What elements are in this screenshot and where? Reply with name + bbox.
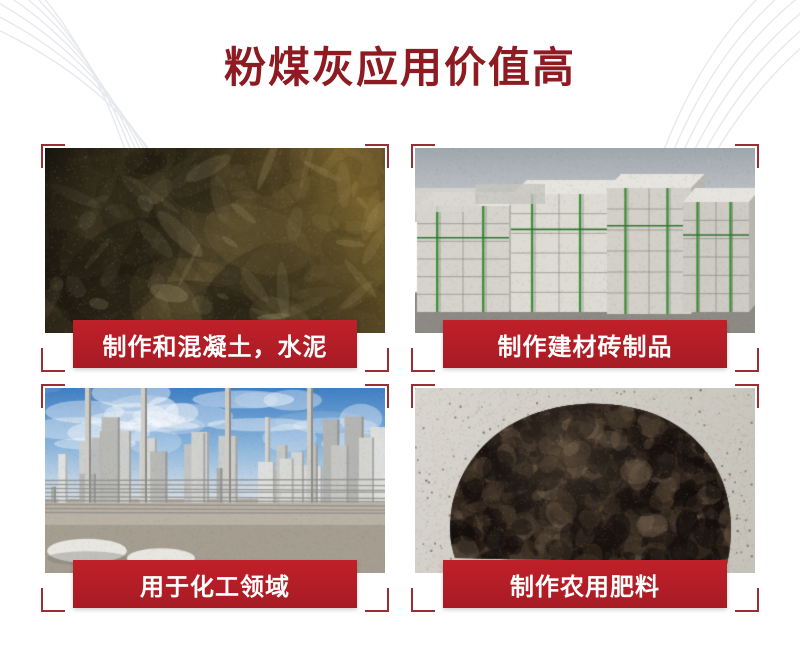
corner-bracket-top-right — [735, 144, 759, 168]
corner-bracket-top-right — [365, 384, 389, 408]
card-caption: 制作和混凝土，水泥 — [73, 320, 357, 368]
application-card: 制作农用肥料 — [415, 388, 755, 608]
corner-bracket-top-left — [41, 144, 65, 168]
corner-bracket-bottom-right — [365, 348, 389, 372]
corner-bracket-bottom-left — [41, 348, 65, 372]
card-caption: 制作建材砖制品 — [443, 320, 727, 368]
aerated-brick-stacks-photo — [415, 148, 755, 333]
corner-bracket-bottom-right — [735, 588, 759, 612]
corner-bracket-top-right — [735, 384, 759, 408]
poster-root: 粉煤灰应用价值高 制作和混凝土，水泥 制作建材砖制品 — [0, 0, 800, 645]
corner-bracket-bottom-right — [735, 348, 759, 372]
corner-bracket-bottom-left — [41, 588, 65, 612]
corner-bracket-bottom-left — [411, 348, 435, 372]
corner-bracket-bottom-left — [411, 588, 435, 612]
corner-bracket-top-left — [41, 384, 65, 408]
corner-bracket-top-left — [411, 384, 435, 408]
card-caption: 用于化工领域 — [73, 560, 357, 608]
application-card: 用于化工领域 — [45, 388, 385, 608]
application-card: 制作建材砖制品 — [415, 148, 755, 368]
wet-fly-ash-concrete-photo — [45, 148, 385, 333]
corner-bracket-top-left — [411, 144, 435, 168]
corner-bracket-top-right — [365, 144, 389, 168]
application-card: 制作和混凝土，水泥 — [45, 148, 385, 368]
card-caption: 制作农用肥料 — [443, 560, 727, 608]
corner-bracket-bottom-right — [365, 588, 389, 612]
chemical-plant-photo — [45, 388, 385, 573]
page-title: 粉煤灰应用价值高 — [0, 34, 800, 95]
dark-powder-fertilizer-photo — [415, 388, 755, 573]
application-card-grid: 制作和混凝土，水泥 制作建材砖制品 用于化工领域 — [45, 148, 755, 628]
